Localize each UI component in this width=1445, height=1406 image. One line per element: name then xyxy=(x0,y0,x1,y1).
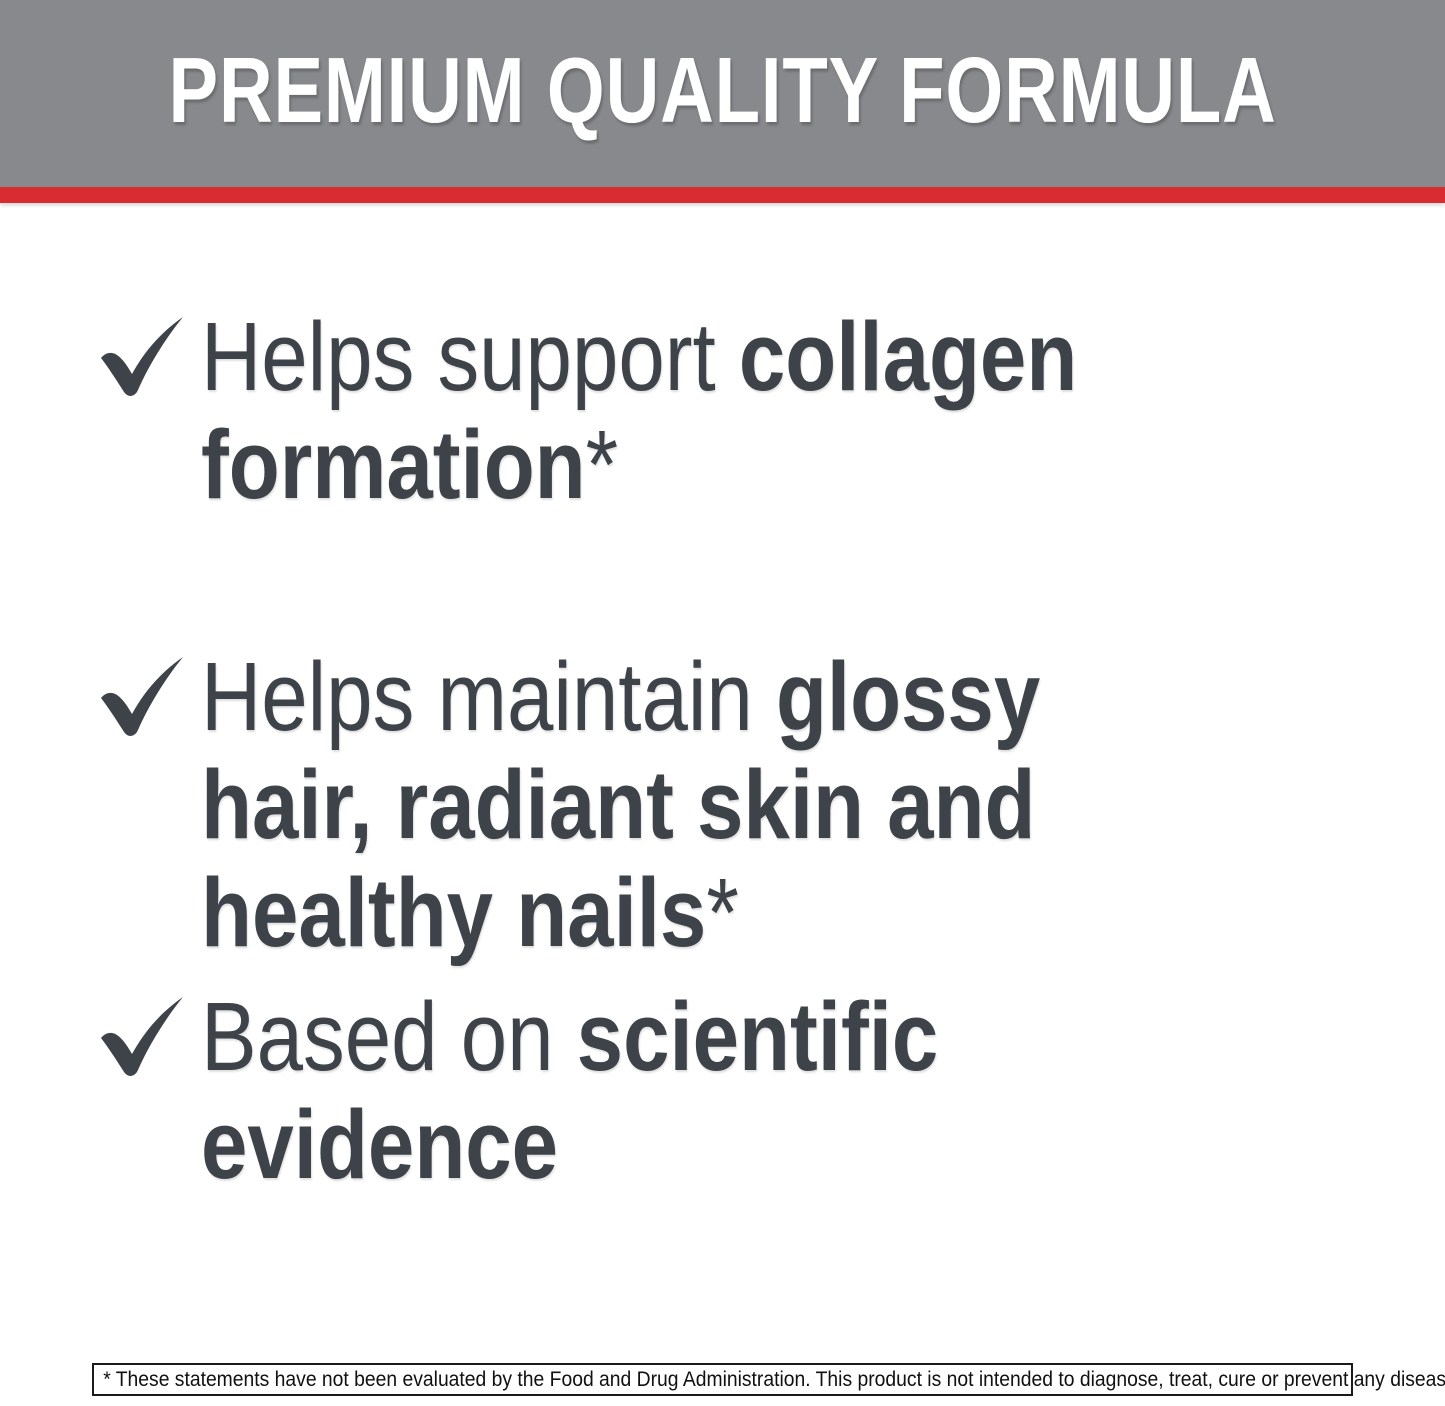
benefit-lead-3: Based on xyxy=(201,982,577,1091)
disclaimer-text: * These statements have not been evaluat… xyxy=(94,1369,1352,1390)
benefit-text-2: Helps maintain glossy hair, radiant skin… xyxy=(201,643,1228,967)
benefit-item-1: Helps support collagen formation* xyxy=(95,303,1395,519)
page-title: PREMIUM QUALITY FORMULA xyxy=(168,44,1276,137)
checkmark-icon xyxy=(95,991,193,1087)
benefit-item-2: Helps maintain glossy hair, radiant skin… xyxy=(95,643,1395,967)
benefit-text-1: Helps support collagen formation* xyxy=(201,303,1228,519)
benefits-list: Helps support collagen formation* Helps … xyxy=(0,203,1445,1333)
benefit-text-3: Based on scientific evidence xyxy=(201,983,1228,1199)
benefit-lead-1: Helps support xyxy=(201,302,739,411)
benefit-lead-2: Helps maintain xyxy=(201,642,776,751)
benefit-suffix-1: * xyxy=(586,410,618,519)
accent-stripe xyxy=(0,187,1445,203)
disclaimer-box: * These statements have not been evaluat… xyxy=(92,1363,1353,1396)
benefit-suffix-2: * xyxy=(706,858,738,967)
product-feature-panel: PREMIUM QUALITY FORMULA Helps support co… xyxy=(0,0,1445,1406)
checkmark-icon xyxy=(95,311,193,407)
header-band: PREMIUM QUALITY FORMULA xyxy=(0,0,1445,187)
checkmark-icon xyxy=(95,651,193,747)
benefit-item-3: Based on scientific evidence xyxy=(95,983,1395,1199)
